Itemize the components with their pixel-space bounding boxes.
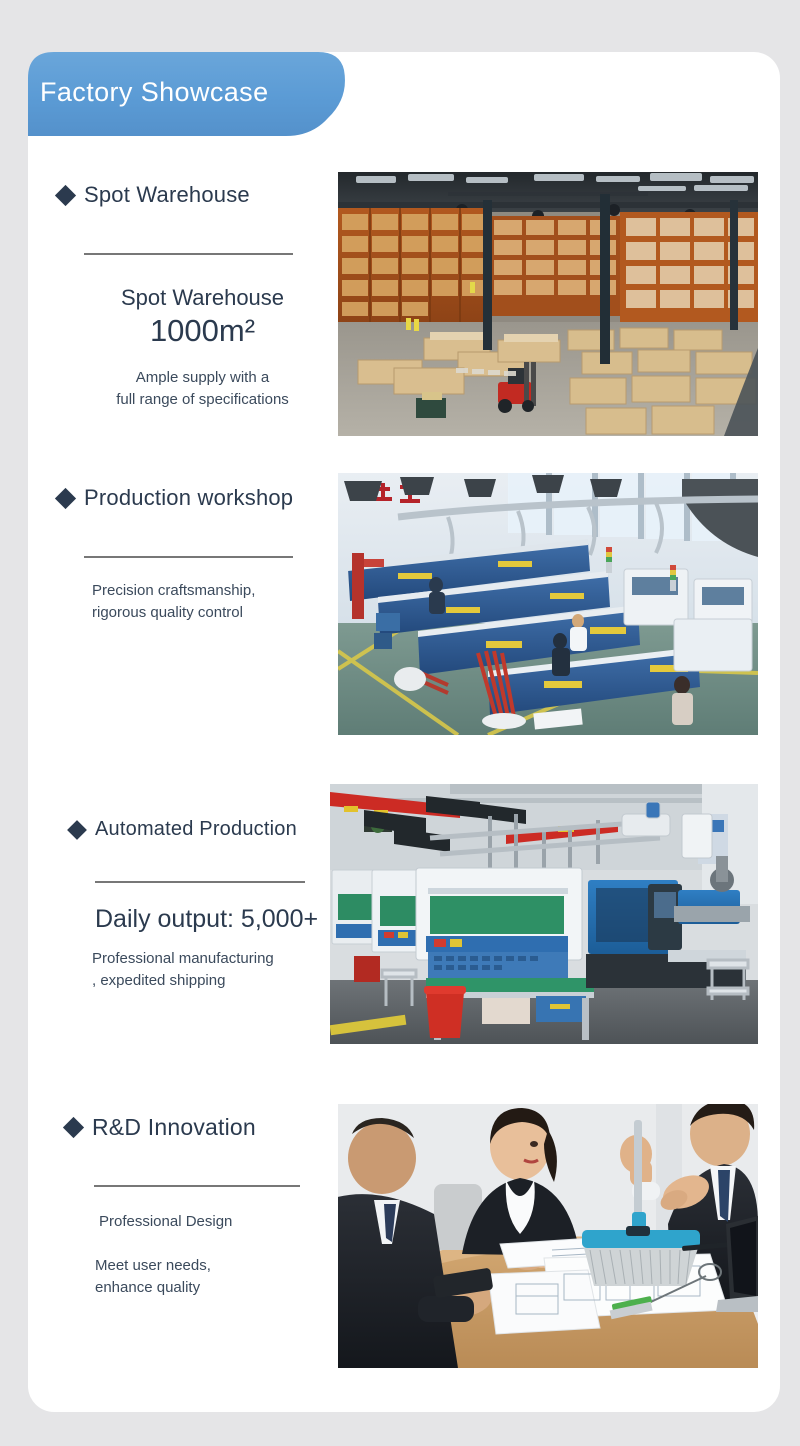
red-bucket — [424, 986, 466, 1038]
section-rd-innovation: R&D Innovation Professional Design Meet … — [66, 1114, 346, 1298]
section-divider — [84, 556, 293, 558]
section-heading-label: Production workshop — [84, 485, 293, 511]
section-description-line-1: Meet user needs, — [95, 1255, 346, 1277]
diamond-icon — [55, 487, 76, 508]
section-description-line-1: Precision craftsmanship, — [92, 580, 338, 602]
section-heading-automated-production: Automated Production — [70, 818, 350, 841]
section-divider — [94, 1185, 300, 1187]
page-title: Factory Showcase — [40, 50, 269, 134]
rd-meeting-photo — [338, 1104, 758, 1368]
section-spot-warehouse: Spot Warehouse Spot Warehouse 1000m² Amp… — [58, 182, 328, 411]
section-heading-spot-warehouse: Spot Warehouse — [58, 182, 328, 208]
section-automated-production: Automated Production Daily output: 5,000… — [70, 818, 350, 992]
diamond-icon — [67, 820, 87, 840]
section-production-workshop: Production workshop Precision craftsmans… — [58, 485, 338, 624]
section-subtitle: Professional Design — [99, 1211, 346, 1233]
section-divider — [95, 881, 305, 883]
section-heading-production-workshop: Production workshop — [58, 485, 338, 511]
workshop-photo — [338, 473, 758, 735]
automation-photo — [330, 784, 758, 1044]
diamond-icon — [63, 1117, 84, 1138]
section-heading-label: Automated Production — [95, 818, 297, 841]
section-subtitle: Spot Warehouse — [80, 285, 325, 311]
warehouse-photo — [338, 172, 758, 436]
worker — [672, 676, 693, 725]
section-heading-label: Spot Warehouse — [84, 182, 250, 208]
section-heading-rd-innovation: R&D Innovation — [66, 1114, 346, 1141]
section-metric: Daily output: 5,000+ — [95, 905, 350, 934]
worker — [429, 577, 445, 614]
section-divider — [84, 253, 293, 255]
section-description-line-1: Ample supply with a — [80, 367, 325, 389]
section-heading-label: R&D Innovation — [92, 1114, 256, 1141]
diamond-icon — [55, 184, 76, 205]
section-description-line-2: rigorous quality control — [92, 602, 338, 624]
section-description-line-2: , expedited shipping — [92, 970, 350, 992]
section-metric: 1000m² — [80, 313, 325, 349]
section-description-line-2: full range of specifications — [80, 389, 325, 411]
section-description-line-1: Professional manufacturing — [92, 948, 350, 970]
section-description-line-2: enhance quality — [95, 1277, 346, 1299]
